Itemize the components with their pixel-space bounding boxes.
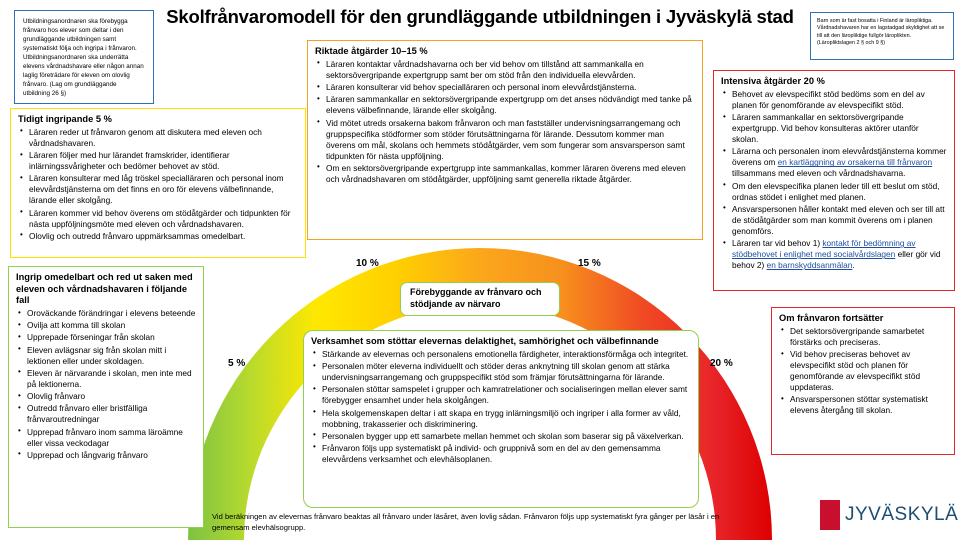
list-item: Outredd frånvaro eller bristfälliga från… [16,403,196,425]
compulsory-education-note-box: Barn som är fast bosatta i Finland är lä… [810,12,954,60]
list-item-with-link: Lärarna och personalen inom elevvårdstjä… [721,146,947,179]
arc-label-10: 10 % [356,258,379,269]
list-item: Frånvaron följs upp systematiskt på indi… [311,443,691,465]
logo-wordmark: JYVÄSKYLÄ [845,504,958,526]
list-item: Läraren konsulterar vid behov speciallär… [315,82,695,93]
absence-continues-box: Om frånvaron fortsätter Det sektorsöverg… [771,307,955,455]
list-item: Ansvarspersonen håller kontakt med eleve… [721,204,947,237]
law-note-box: Utbildningsanordnaren ska förebygga från… [14,10,154,104]
list-item: Behovet av elevspecifikt stöd bedöms som… [721,89,947,111]
logo-red-bar [820,500,840,530]
compulsory-education-note-text: Barn som är fast bosatta i Finland är lä… [817,18,947,48]
targeted-measures-heading: Riktade åtgärder 10–15 % [315,46,695,58]
list-item: Det sektorsövergripande samarbetet först… [779,326,947,348]
list-item: Läraren kommer vid behov överens om stöd… [18,208,298,230]
list-item: Vid mötet utreds orsakerna bakom frånvar… [315,118,695,162]
arc-label-20: 20 % [710,358,733,369]
list-item: Läraren reder ut frånvaron genom att dis… [18,127,298,149]
support-activities-list: Stärkande av elevernas och personalens e… [311,349,691,465]
list-item: Eleven är närvarande i skolan, men inte … [16,368,196,390]
absence-continues-list: Det sektorsövergripande samarbetet först… [779,326,947,417]
link-social-welfare-contact[interactable]: kontakt för bedömning av stödbehovet i e… [732,238,916,259]
list-item-with-link: Läraren tar vid behov 1) kontakt för bed… [721,238,947,271]
immediate-intervention-box: Ingrip omedelbart och red ut saken med e… [8,266,204,528]
list-item: Läraren sammankallar en sektorsövergripa… [721,112,947,145]
list-item: Om den elevspecifika planen leder till e… [721,181,947,203]
link-child-protection-report[interactable]: en barnskyddsanmälan [767,260,853,270]
list-item: Personalen stöttar samspelet i grupper o… [311,384,691,406]
infographic-page: Skolfrånvaromodell för den grundläggande… [0,0,960,540]
arc-label-15: 15 % [578,258,601,269]
prevention-callout-text: Förebyggande av frånvaro och stödjande a… [410,287,550,310]
list-item: Upprepade förseningar från skolan [16,332,196,343]
list-item: Stärkande av elevernas och personalens e… [311,349,691,360]
list-item: Upprepad och långvarig frånvaro [16,450,196,461]
list-item: Om en sektorsövergripande expertgrupp in… [315,163,695,185]
targeted-measures-list: Läraren kontaktar vårdnadshavarna och be… [315,59,695,185]
intensive-measures-box: Intensiva åtgärder 20 % Behovet av elevs… [713,70,955,291]
jyvaskyla-logo: JYVÄSKYLÄ [820,500,960,530]
list-item: Oroväckande förändringar i elevens betee… [16,308,196,319]
list-item: Personalen bygger upp ett samarbete mell… [311,431,691,442]
arc-label-5: 5 % [228,358,245,369]
link-absence-survey[interactable]: en kartläggning av orsakerna till frånva… [778,157,933,167]
footnote-text: Vid beräkningen av elevernas frånvaro be… [212,512,732,533]
immediate-intervention-heading: Ingrip omedelbart och red ut saken med e… [16,272,196,307]
list-item: Olovlig frånvaro [16,391,196,402]
absence-continues-heading: Om frånvaron fortsätter [779,313,947,325]
intensive-measures-heading: Intensiva åtgärder 20 % [721,76,947,88]
targeted-measures-box: Riktade åtgärder 10–15 % Läraren kontakt… [307,40,703,240]
page-title: Skolfrånvaromodell för den grundläggande… [160,6,800,28]
list-item: Läraren konsulterar med låg tröskel spec… [18,173,298,206]
list-item: Läraren följer med hur lärandet framskri… [18,150,298,172]
law-note-text: Utbildningsanordnaren ska förebygga från… [23,18,145,98]
prevention-callout-box: Förebyggande av frånvaro och stödjande a… [400,282,560,316]
early-intervention-list: Läraren reder ut frånvaron genom att dis… [18,127,298,242]
list-item: Upprepad frånvaro inom samma läroämne el… [16,427,196,449]
immediate-intervention-list: Oroväckande förändringar i elevens betee… [16,308,196,461]
intensive-measures-list: Behovet av elevspecifikt stöd bedöms som… [721,89,947,271]
support-activities-box: Verksamhet som stöttar elevernas delakti… [303,330,699,508]
list-item: Läraren kontaktar vårdnadshavarna och be… [315,59,695,81]
list-item: Ansvarspersonen stöttar systematiskt ele… [779,394,947,416]
list-item: Personalen möter eleverna individuellt o… [311,361,691,383]
list-item: Hela skolgemenskapen deltar i att skapa … [311,408,691,430]
list-item: Ovilja att komma till skolan [16,320,196,331]
support-activities-heading: Verksamhet som stöttar elevernas delakti… [311,336,691,348]
list-item: Vid behov preciseras behovet av elevspec… [779,349,947,393]
early-intervention-box: Tidigt ingripande 5 % Läraren reder ut f… [10,108,306,258]
list-item: Läraren sammankallar en sektorsövergripa… [315,94,695,116]
early-intervention-heading: Tidigt ingripande 5 % [18,114,298,126]
list-item: Eleven avlägsnar sig från skolan mitt i … [16,345,196,367]
list-item: Olovlig och outredd frånvaro uppmärksamm… [18,231,298,242]
